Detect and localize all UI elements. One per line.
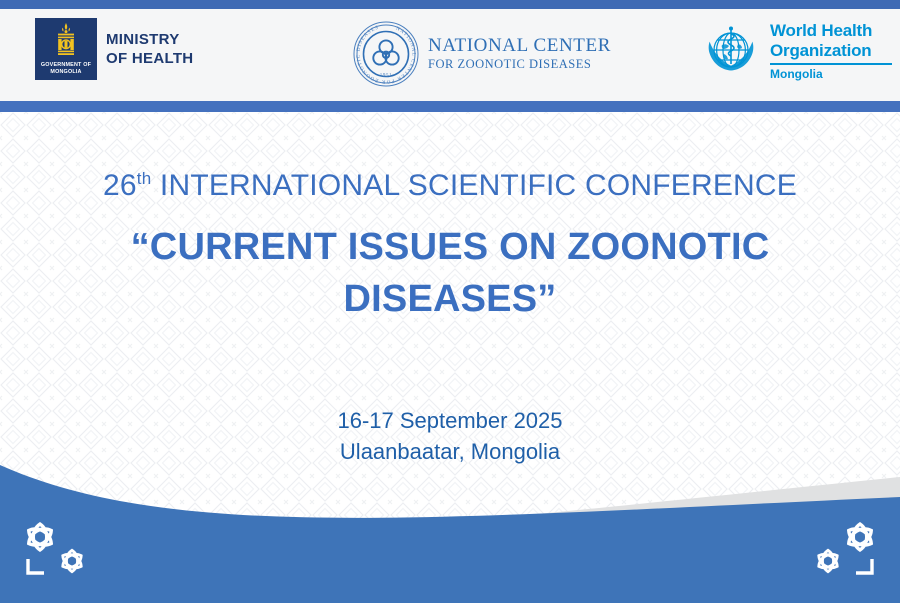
who-underline-rule: [770, 63, 892, 65]
who-country-label: Mongolia: [770, 67, 892, 81]
center-name-line-1: NATIONAL CENTER: [428, 36, 611, 56]
center-name-line-2: FOR ZOONOTIC DISEASES: [428, 58, 611, 71]
national-center-zoonotic-diseases-logo: NATIONAL CENTER FOR ZOONOTIC DISEASES 19…: [352, 20, 611, 88]
theme-title-line-1: “CURRENT ISSUES ON ZOONOTIC: [0, 221, 900, 273]
conference-ordinal-suffix: th: [137, 169, 152, 188]
wave-blue-layer: [0, 465, 900, 603]
conference-label: INTERNATIONAL SCIENTIFIC CONFERENCE: [160, 169, 797, 202]
mongolia-government-emblem-box: GOVERNMENT OF MONGOLIA: [35, 18, 97, 80]
who-globe-laurel-asclepius-icon: [700, 20, 762, 82]
mongolian-knot-ornament-icon: [800, 515, 886, 585]
national-center-name: NATIONAL CENTER FOR ZOONOTIC DISEASES: [428, 36, 611, 71]
slide-content: 26th INTERNATIONAL SCIENTIFIC CONFERENCE…: [0, 112, 900, 467]
ministry-name-line-1: MINISTRY: [106, 30, 193, 49]
conference-dates: 16-17 September 2025: [0, 405, 900, 436]
conference-details: 16-17 September 2025 Ulaanbaatar, Mongol…: [0, 405, 900, 467]
mongolia-state-emblem-icon: [51, 22, 81, 62]
who-name-block: World Health Organization Mongolia: [770, 21, 892, 81]
top-accent-bar: [0, 0, 900, 9]
svg-text:1951: 1951: [380, 74, 392, 79]
theme-title-line-2: DISEASES”: [0, 273, 900, 325]
emblem-caption-line-1: GOVERNMENT OF: [35, 62, 97, 69]
bottom-wave-decoration: [0, 463, 900, 603]
ministry-name-line-2: OF HEALTH: [106, 49, 193, 68]
conference-edition-line: 26th INTERNATIONAL SCIENTIFIC CONFERENCE: [0, 169, 900, 203]
conference-title-slide: GOVERNMENT OF MONGOLIA MINISTRY OF HEALT…: [0, 0, 900, 603]
conference-number: 26: [103, 169, 137, 202]
mongolia-government-emblem-caption: GOVERNMENT OF MONGOLIA: [35, 62, 97, 76]
mongolian-knot-ornament-icon: [14, 515, 100, 585]
who-mongolia-logo: World Health Organization Mongolia: [700, 20, 892, 82]
biohazard-seal-icon: NATIONAL CENTER FOR ZOONOTIC DISEASES 19…: [352, 20, 420, 88]
who-name-line-2: Organization: [770, 41, 892, 61]
conference-theme-title: “CURRENT ISSUES ON ZOONOTIC DISEASES”: [0, 221, 900, 325]
header-divider-bar: [0, 101, 900, 112]
emblem-caption-line-2: MONGOLIA: [35, 69, 97, 76]
ministry-of-health-name: MINISTRY OF HEALTH: [106, 30, 193, 68]
ministry-of-health-logo: GOVERNMENT OF MONGOLIA MINISTRY OF HEALT…: [35, 18, 193, 80]
who-name-line-1: World Health: [770, 21, 892, 41]
